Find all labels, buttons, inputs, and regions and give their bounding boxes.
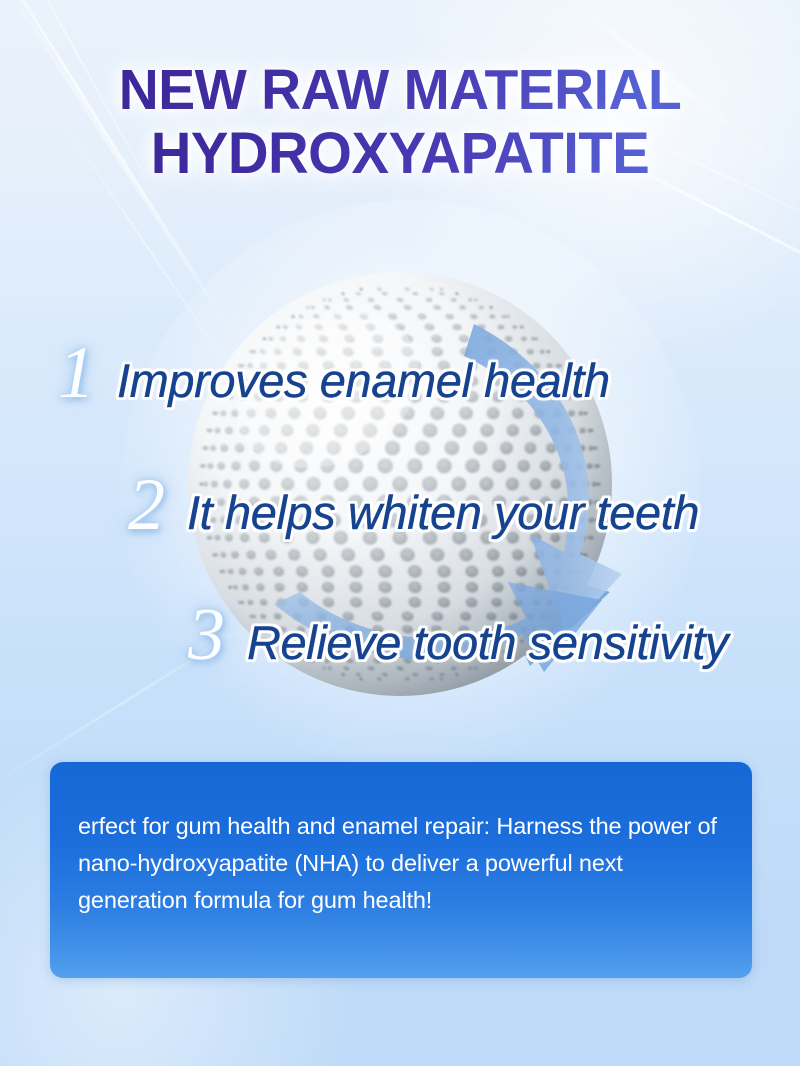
nanoparticle-sphere-graphic bbox=[178, 262, 622, 706]
headline-line-2: HYDROXYAPATITE bbox=[12, 122, 788, 186]
benefit-number: 2 bbox=[128, 468, 165, 542]
description-text: erfect for gum health and enamel repair:… bbox=[78, 808, 724, 919]
light-ray bbox=[575, 105, 800, 246]
headline: NEW RAW MATERIAL HYDROXYAPATITE bbox=[0, 58, 800, 186]
light-ray bbox=[0, 0, 178, 234]
poster-canvas: NEW RAW MATERIAL HYDROXYAPATITE 1 Improv… bbox=[0, 0, 800, 1066]
headline-line-1: NEW RAW MATERIAL bbox=[12, 58, 788, 122]
light-ray bbox=[506, 0, 793, 176]
description-panel: erfect for gum health and enamel repair:… bbox=[50, 762, 752, 978]
benefit-number: 1 bbox=[58, 336, 95, 410]
